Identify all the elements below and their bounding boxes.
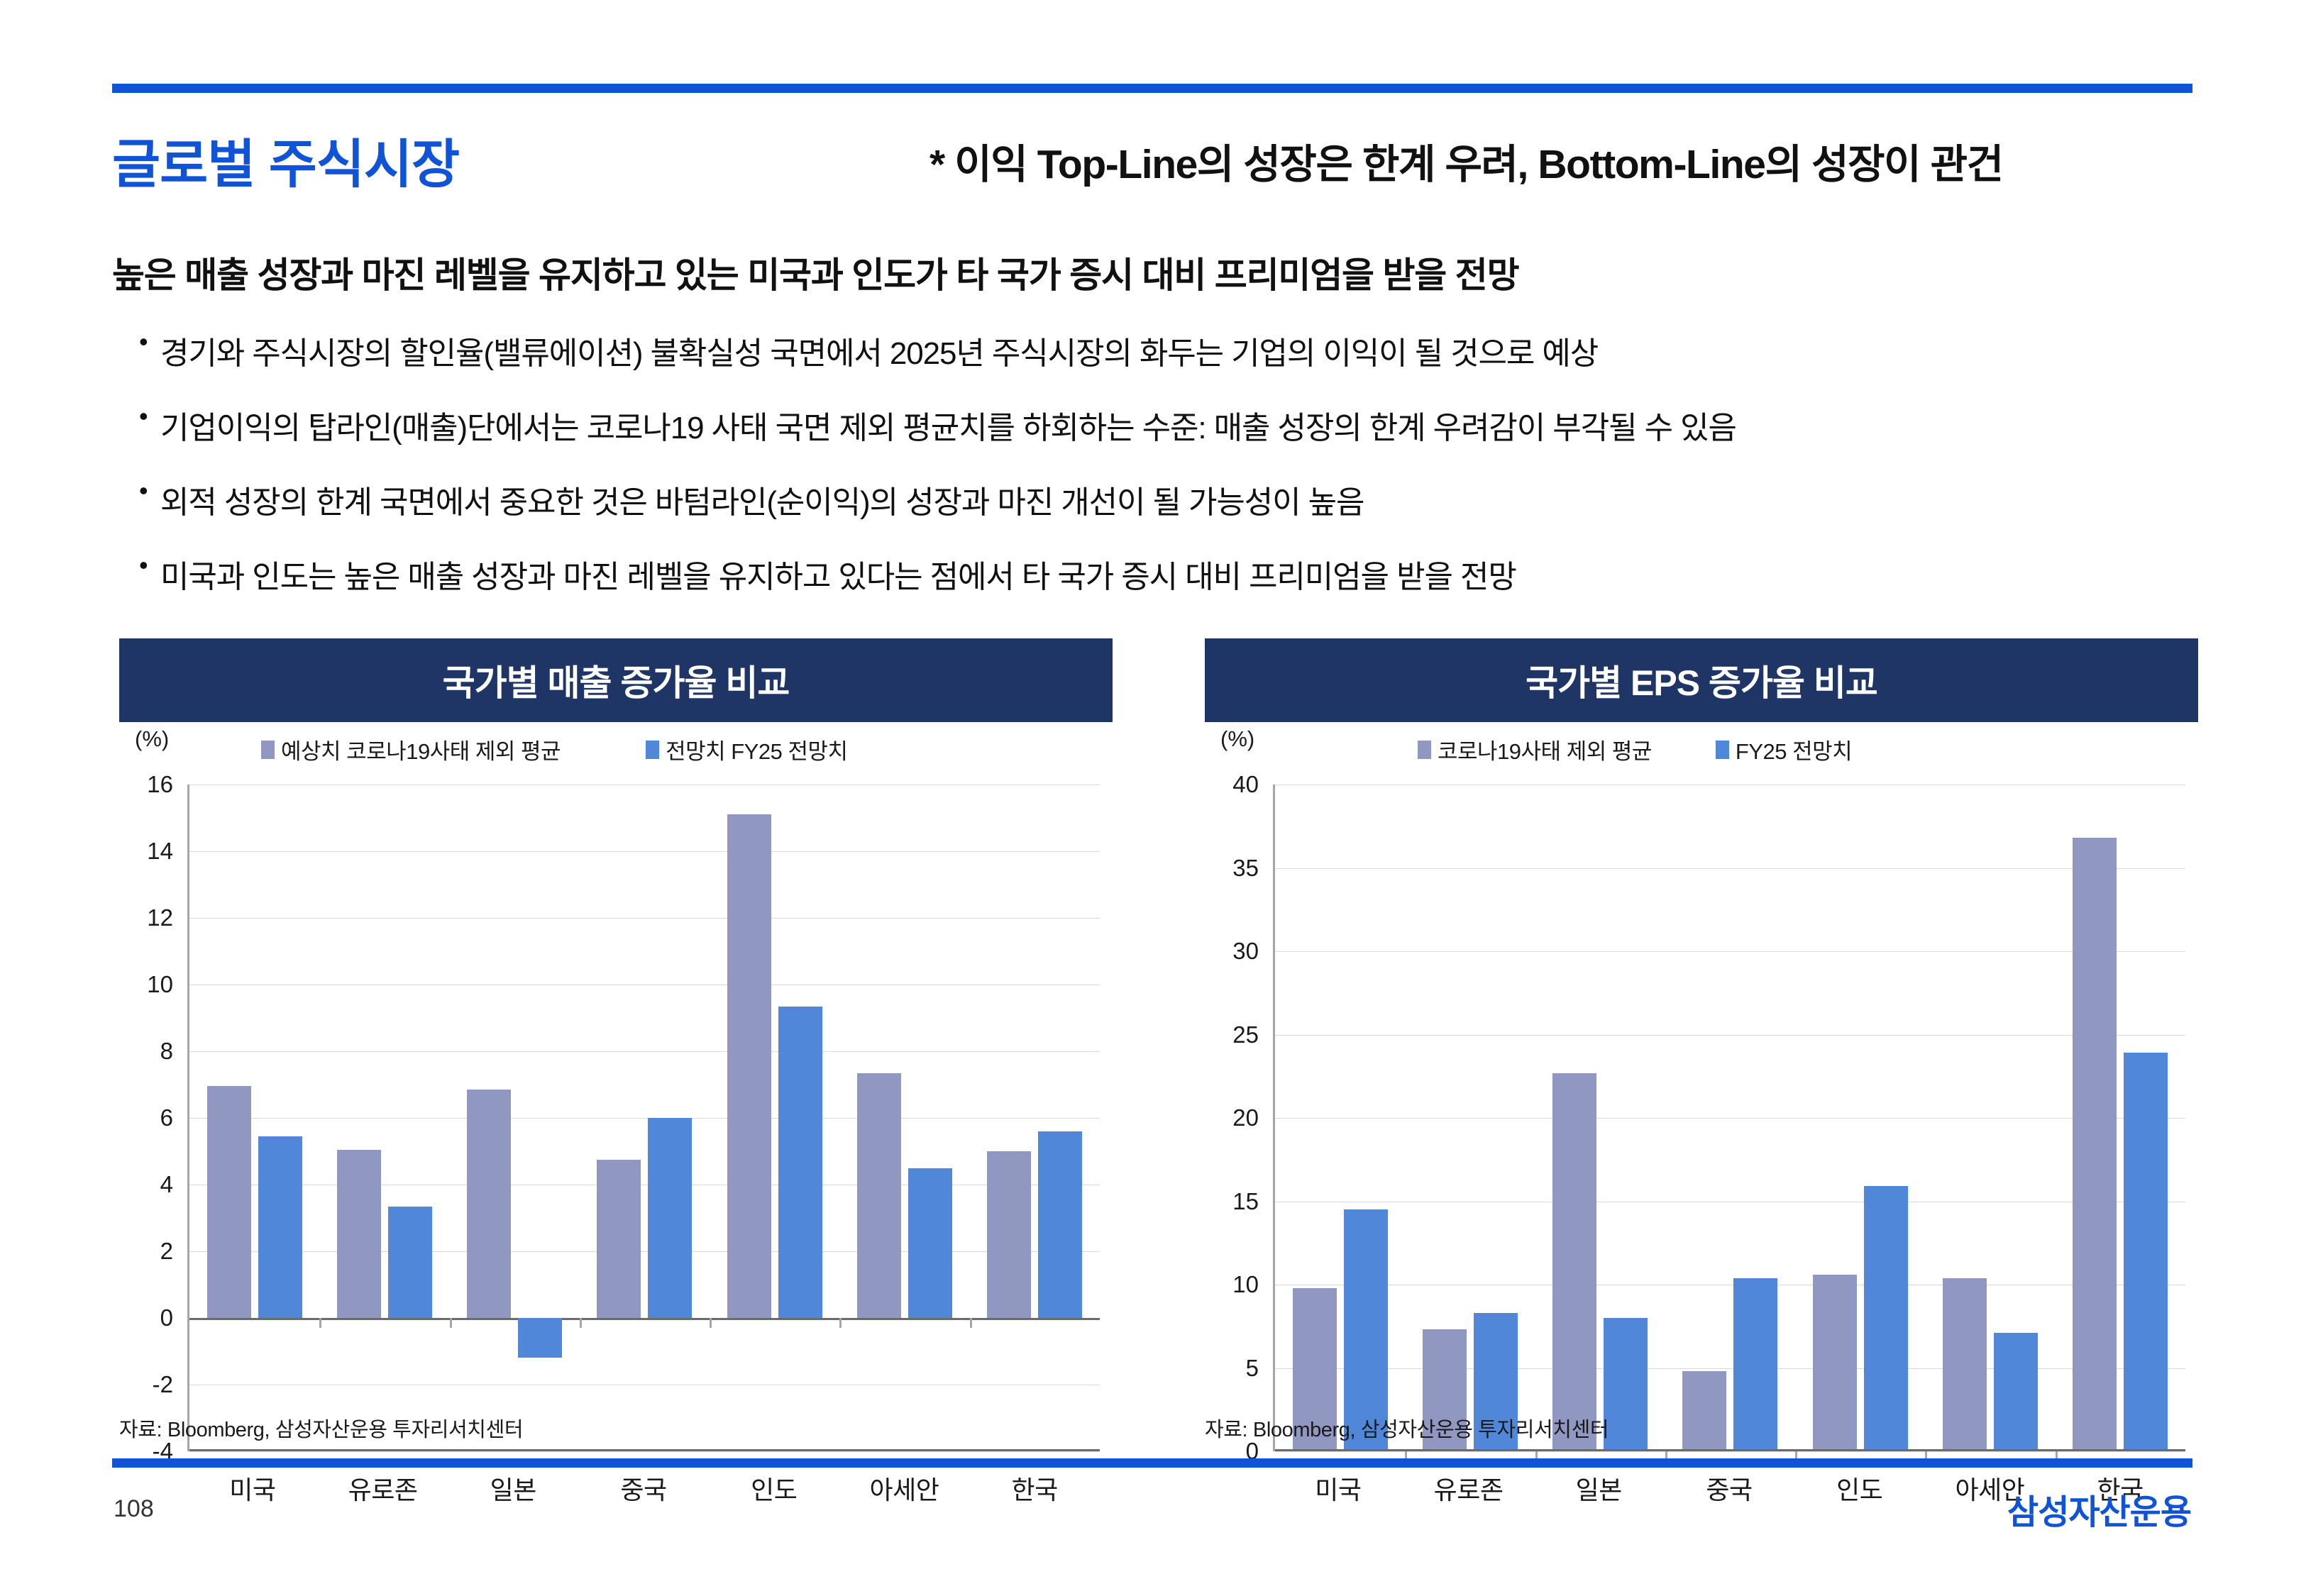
bar [388, 1207, 432, 1318]
list-item-label: 미국과 인도는 높은 매출 성장과 마진 레벨을 유지하고 있다는 점에서 타 … [160, 551, 1516, 597]
y-axis-tick-label: 40 [1232, 771, 1259, 798]
bar-group [319, 785, 449, 1451]
legend-swatch-icon [646, 741, 659, 759]
legend-swatch-icon [1716, 741, 1729, 759]
bar [648, 1118, 692, 1318]
bar-group [710, 785, 839, 1451]
y-axis-tick-label: 25 [1232, 1021, 1259, 1048]
plot-revenue: 1614121086420-2-4 미국유로존일본중국인도아세안한국 [119, 785, 1113, 1451]
legend-entry: FY25 전망치 [1716, 733, 1852, 765]
bar-group [2056, 785, 2185, 1451]
list-item-label: 외적 성장의 한계 국면에서 중요한 것은 바텀라인(순이익)의 성장과 마진 … [160, 477, 1364, 522]
legend-label: 코로나19사태 제외 평균 [1438, 733, 1652, 765]
list-item: • 미국과 인도는 높은 매출 성장과 마진 레벨을 유지하고 있다는 점에서 … [139, 551, 2197, 626]
bar-group [189, 785, 319, 1451]
bar-group [1795, 785, 1925, 1451]
chart-legend: 코로나19사태 제외 평균 FY25 전망치 [1418, 733, 1852, 765]
bar [207, 1086, 251, 1318]
bar [1038, 1131, 1082, 1318]
x-axis-tick-label: 미국 [187, 1470, 318, 1507]
x-axis-tick-label: 미국 [1273, 1470, 1403, 1507]
bar [727, 814, 771, 1318]
page-subtitle: * 이익 Top-Line의 성장은 한계 우려, Bottom-Line의 성… [929, 132, 2003, 190]
brand-logo: 삼성자산운용 [2007, 1484, 2191, 1534]
bar [1604, 1318, 1648, 1451]
y-axis-tick-label: 14 [147, 838, 173, 865]
bar-group [1925, 785, 2055, 1451]
x-axis-line [1275, 1449, 2185, 1451]
bar [778, 1007, 822, 1318]
bar-group [1665, 785, 1795, 1451]
chart-area-eps: (%) 코로나19사태 제외 평균 FY25 전망치 4035302520151… [1205, 785, 2198, 1451]
x-axis-tick-label: 일본 [1533, 1470, 1664, 1507]
bar [2073, 838, 2117, 1451]
bar-group [1275, 785, 1405, 1451]
y-axis-tick-label: 8 [160, 1038, 173, 1065]
bar [1994, 1333, 2038, 1451]
bar-group [970, 785, 1100, 1451]
slide-root: 글로벌 주식시장 * 이익 Top-Line의 성장은 한계 우려, Botto… [0, 0, 2306, 1596]
page-title: 글로벌 주식시장 [112, 122, 459, 198]
bar [337, 1150, 381, 1318]
bar [1943, 1278, 1987, 1451]
chart-source-eps: 자료: Bloomberg, 삼성자산운용 투자리서치센터 [1205, 1413, 1609, 1443]
plot-grid [187, 785, 1100, 1451]
chart-panel-title: 국가별 매출 증가율 비교 [119, 638, 1113, 722]
y-axis-labels: 4035302520151050 [1205, 785, 1266, 1451]
y-axis-tick-label: 12 [147, 904, 173, 931]
x-axis-tick-label: 중국 [1664, 1470, 1794, 1507]
bar [1552, 1073, 1596, 1451]
legend-entry: 전망치 FY25 전망치 [646, 733, 847, 765]
list-item-label: 기업이익의 탑라인(매출)단에서는 코로나19 사태 국면 제외 평균치를 하회… [160, 402, 1736, 448]
y-axis-tick-label: 10 [147, 971, 173, 998]
x-axis-tick-label: 일본 [448, 1470, 578, 1507]
bar [1733, 1278, 1777, 1451]
gridline [1275, 1451, 2185, 1452]
legend-swatch-icon [261, 741, 275, 759]
y-axis-tick-label: 0 [160, 1304, 173, 1331]
bar [1813, 1275, 1857, 1451]
plot-grid [1273, 785, 2185, 1451]
y-axis-tick-label: 5 [1246, 1355, 1259, 1382]
bar-groups [189, 785, 1100, 1451]
x-axis-tick-label: 한국 [969, 1470, 1100, 1507]
bar [597, 1160, 641, 1318]
y-axis-tick-label: 2 [160, 1238, 173, 1265]
legend-entry: 예상치 코로나19사태 제외 평균 [261, 733, 561, 765]
bar-group [450, 785, 580, 1451]
bar [258, 1136, 302, 1318]
gridline [189, 1451, 1100, 1452]
bar [518, 1318, 562, 1358]
bar [987, 1151, 1031, 1318]
bullet-marker-icon: • [139, 477, 160, 505]
bullet-marker-icon: • [139, 551, 160, 580]
bar [1682, 1371, 1726, 1451]
y-axis-unit-label: (%) [1220, 726, 1254, 752]
x-axis-tick-label: 아세안 [839, 1470, 970, 1507]
bar [467, 1090, 511, 1318]
bar-group [1405, 785, 1535, 1451]
bar [1864, 1186, 1908, 1451]
y-axis-tick-label: 6 [160, 1104, 173, 1131]
bullet-marker-icon: • [139, 328, 160, 356]
bar-group [1535, 785, 1665, 1451]
x-axis-tick-label: 인도 [1794, 1470, 1925, 1507]
page-number: 108 [114, 1495, 154, 1523]
list-item: • 경기와 주식시장의 할인율(밸류에이션) 불확실성 국면에서 2025년 주… [139, 328, 2197, 402]
list-item-label: 경기와 주식시장의 할인율(밸류에이션) 불확실성 국면에서 2025년 주식시… [160, 328, 1598, 373]
y-axis-tick-label: 35 [1232, 855, 1259, 882]
x-axis-tick-label: 중국 [578, 1470, 709, 1507]
plot-eps: 4035302520151050 미국유로존일본중국인도아세안한국 [1205, 785, 2198, 1451]
bar [908, 1168, 952, 1319]
legend-label: 전망치 FY25 전망치 [666, 733, 847, 765]
legend-label: 예상치 코로나19사태 제외 평균 [281, 733, 561, 765]
bar-group [580, 785, 710, 1451]
bullet-list: • 경기와 주식시장의 할인율(밸류에이션) 불확실성 국면에서 2025년 주… [139, 328, 2197, 626]
lead-statement: 높은 매출 성장과 마진 레벨을 유지하고 있는 미국과 인도가 타 국가 증시… [112, 247, 1518, 298]
y-axis-tick-label: 10 [1232, 1271, 1259, 1298]
chart-source-revenue: 자료: Bloomberg, 삼성자산운용 투자리서치센터 [119, 1413, 523, 1443]
chart-legend: 예상치 코로나19사태 제외 평균 전망치 FY25 전망치 [261, 733, 848, 765]
x-axis-line [189, 1449, 1100, 1451]
chart-panel-title: 국가별 EPS 증가율 비교 [1205, 638, 2198, 722]
x-axis-tick-label: 유로존 [318, 1470, 448, 1507]
legend-swatch-icon [1418, 741, 1431, 759]
legend-entry: 코로나19사태 제외 평균 [1418, 733, 1652, 765]
legend-label: FY25 전망치 [1736, 733, 1852, 765]
y-axis-tick-label: 16 [147, 771, 173, 798]
y-axis-tick-label: 15 [1232, 1188, 1259, 1215]
chart-panel-eps: 국가별 EPS 증가율 비교 (%) 코로나19사태 제외 평균 FY25 전망… [1205, 638, 2198, 1451]
bar [2124, 1053, 2168, 1451]
x-axis-tick-label: 인도 [709, 1470, 839, 1507]
y-axis-unit-label: (%) [135, 726, 169, 752]
y-axis-tick-label: -2 [153, 1371, 173, 1398]
bar [857, 1073, 901, 1318]
header-rule [112, 84, 2192, 93]
bar-group [839, 785, 969, 1451]
chart-panel-revenue: 국가별 매출 증가율 비교 (%) 예상치 코로나19사태 제외 평균 전망치 … [119, 638, 1113, 1451]
bullet-marker-icon: • [139, 402, 160, 431]
footer-rule [112, 1458, 2192, 1468]
x-axis-labels: 미국유로존일본중국인도아세안한국 [187, 1470, 1100, 1507]
y-axis-tick-label: 20 [1232, 1104, 1259, 1131]
chart-area-revenue: (%) 예상치 코로나19사태 제외 평균 전망치 FY25 전망치 16141… [119, 785, 1113, 1451]
y-axis-tick-label: 30 [1232, 938, 1259, 965]
y-axis-labels: 1614121086420-2-4 [119, 785, 180, 1451]
x-axis-tick-label: 유로존 [1403, 1470, 1534, 1507]
list-item: • 기업이익의 탑라인(매출)단에서는 코로나19 사태 국면 제외 평균치를 … [139, 402, 2197, 477]
list-item: • 외적 성장의 한계 국면에서 중요한 것은 바텀라인(순이익)의 성장과 마… [139, 477, 2197, 551]
bar-groups [1275, 785, 2185, 1451]
y-axis-tick-label: 4 [160, 1171, 173, 1198]
